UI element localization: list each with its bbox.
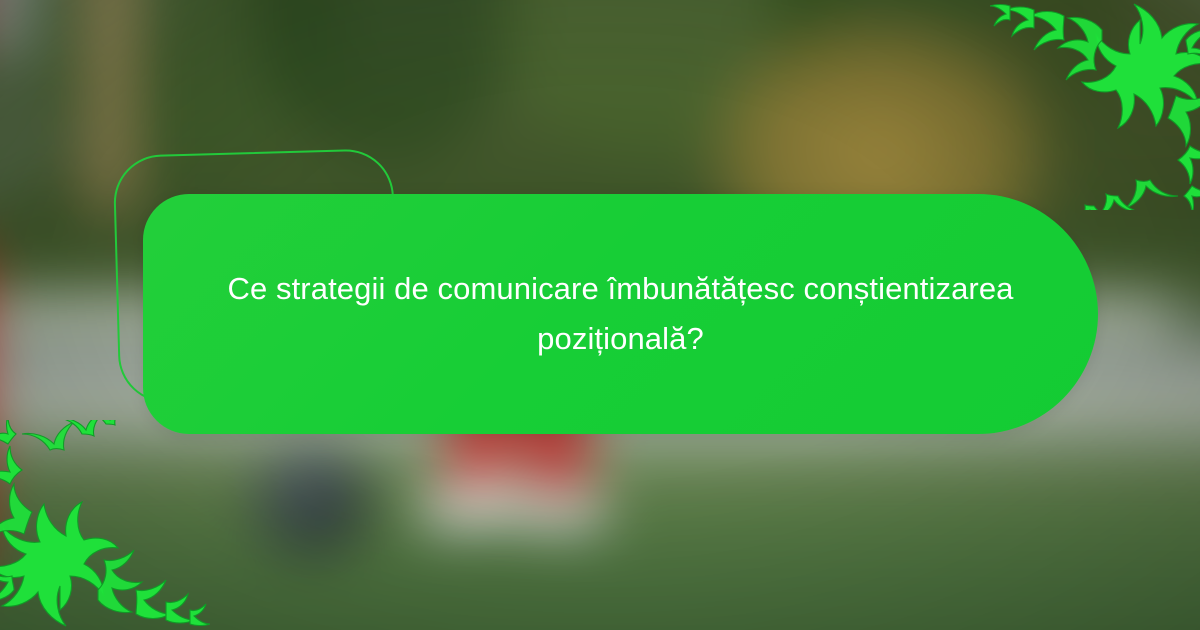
page-title: Ce strategii de comunicare îmbunătățesc … [181,264,1061,364]
headline-card: Ce strategii de comunicare îmbunătățesc … [143,194,1098,434]
social-card-canvas: Ce strategii de comunicare îmbunătățesc … [0,0,1200,630]
